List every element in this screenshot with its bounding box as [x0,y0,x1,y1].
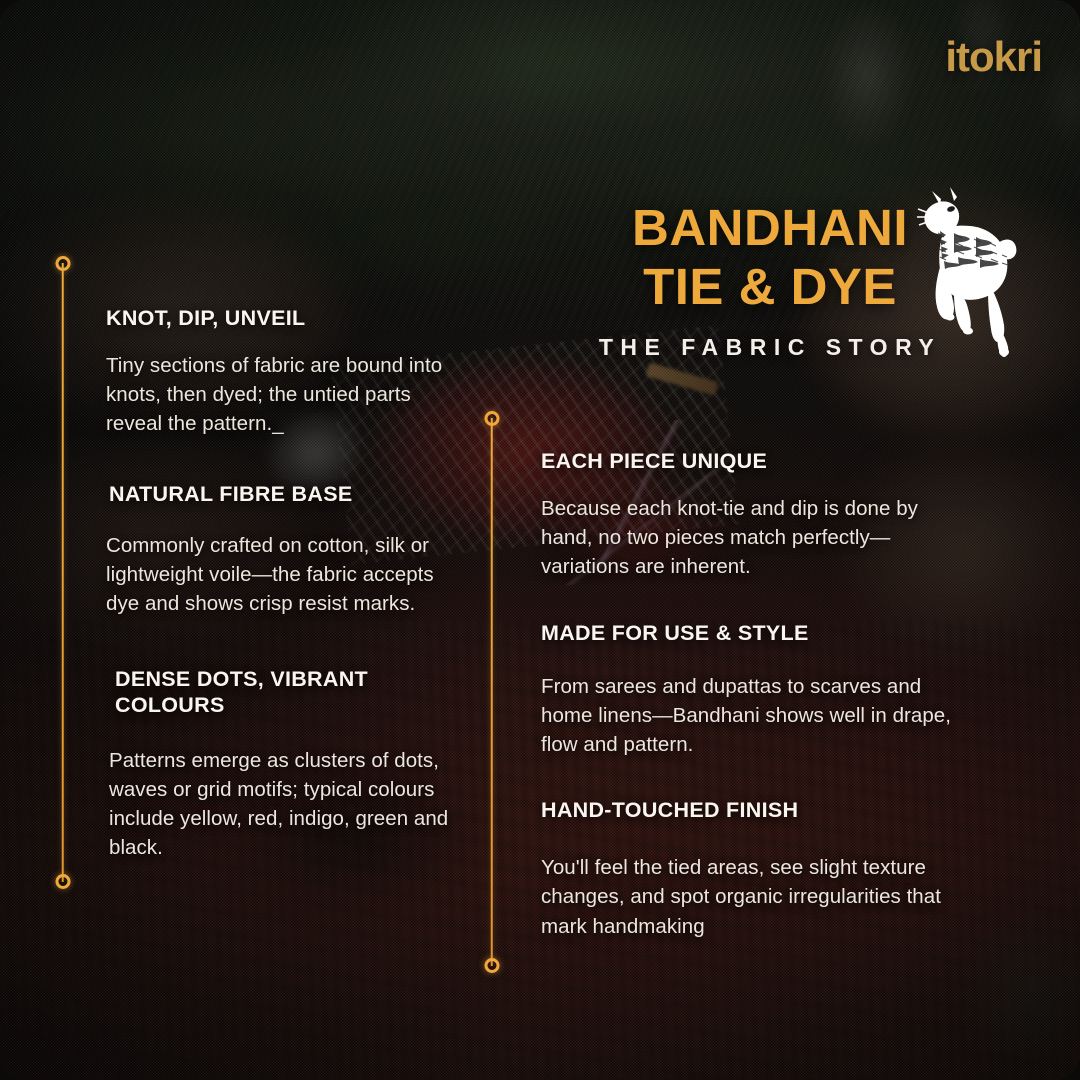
right-content-column: EACH PIECE UNIQUE Because each knot-tie … [541,448,951,979]
list-item: EACH PIECE UNIQUE Because each knot-tie … [541,448,951,582]
item-body: You'll feel the tied areas, see slight t… [541,853,951,940]
rail-dot-bottom-right [484,958,499,973]
item-body: Because each knot-tie and dip is done by… [541,494,951,581]
item-heading: HAND-TOUCHED FINISH [541,797,951,823]
timeline-rail-right [484,418,499,966]
item-body: Commonly crafted on cotton, silk or ligh… [106,531,472,618]
item-heading: MADE FOR USE & STYLE [541,620,951,646]
list-item: MADE FOR USE & STYLE From sarees and dup… [541,620,951,760]
item-body: Patterns emerge as clusters of dots, wav… [106,746,472,862]
item-heading: NATURAL FIBRE BASE [106,481,472,507]
left-content-column: KNOT, DIP, UNVEIL Tiny sections of fabri… [106,305,472,892]
timeline-rail-left [55,263,70,882]
list-item: KNOT, DIP, UNVEIL Tiny sections of fabri… [106,305,472,439]
brand-logo[interactable]: itokri [945,36,1042,78]
item-heading: EACH PIECE UNIQUE [541,448,951,474]
title-block: BANDHANI TIE & DYE THE FABRIC STORY [560,200,980,361]
rail-line-left [61,263,64,882]
infographic-poster: itokri BANDHANI TIE & DYE THE FABRIC STO… [0,0,1080,1080]
rail-dot-bottom-left [55,874,70,889]
list-item: NATURAL FIBRE BASE Commonly crafted on c… [106,481,472,619]
item-body: Tiny sections of fabric are bound into k… [106,351,472,438]
list-item: DENSE DOTS, VIBRANT COLOURS Patterns eme… [106,666,472,862]
goat-illustration-icon [910,185,1030,360]
list-item: HAND-TOUCHED FINISH You'll feel the tied… [541,797,951,941]
item-heading: KNOT, DIP, UNVEIL [106,305,472,331]
item-heading: DENSE DOTS, VIBRANT COLOURS [106,666,472,718]
item-body: From sarees and dupattas to scarves and … [541,672,951,759]
rail-line-right [490,418,493,966]
